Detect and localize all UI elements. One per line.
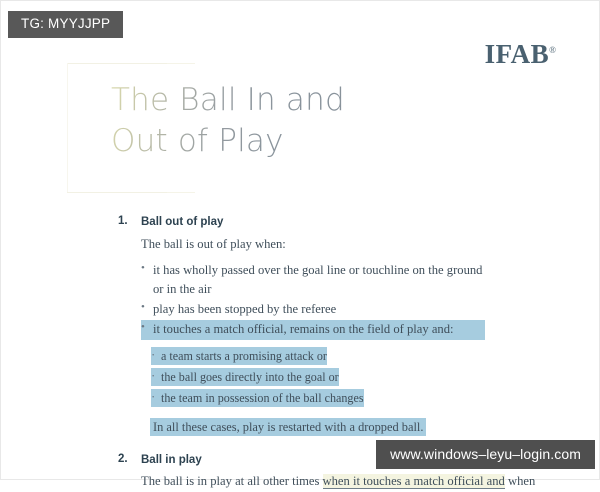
dropped-ball-statement: In all these cases, play is restarted wi… [1,418,600,437]
section-2-lead-emphasis: when it touches a match official and [323,474,505,489]
telegram-tag-badge: TG: MYYJJPP [8,11,123,38]
bullet-text: play has been stopped by the referee [153,302,336,316]
list-item: it has wholly passed over the goal line … [141,261,485,299]
registered-trademark-icon: ® [549,45,556,55]
bullet-text: it has wholly passed over the goal line … [153,263,482,296]
page-title-line-2: Out of Play [111,123,284,159]
site-watermark-badge: www.windows–leyu–login.com [376,440,595,469]
list-item-highlighted: the ball goes directly into the goal or [151,368,339,386]
page-title-line-1: The Ball In and [111,82,345,118]
list-item: play has been stopped by the referee [141,300,485,319]
section-2-lead-after: when [505,474,535,488]
list-item-highlighted: the team in possession of the ball chang… [151,389,364,407]
ifab-logo-text: IFAB [485,39,550,69]
ifab-logo: IFAB® [485,41,556,68]
bracket-left-decoration [67,63,68,193]
section-1-lead: The ball is out of play when: [118,235,600,255]
dropped-ball-text: In all these cases, play is restarted wi… [151,419,425,435]
subbullet-text: the ball goes directly into the goal or [161,370,339,384]
page-title: The Ball In and Out of Play [111,80,345,162]
section-2-lead: The ball is in play at all other times w… [118,472,600,492]
section-ball-out-of-play: 1. Ball out of play The ball is out of p… [1,215,600,254]
subbullet-text: the team in possession of the ball chang… [161,391,364,405]
document-page: TG: MYYJJPP IFAB® The Ball In and Out of… [0,0,600,480]
bracket-bottom-decoration [67,192,167,193]
ball-out-of-play-bullet-list: it has wholly passed over the goal line … [1,261,600,407]
section-1-heading: Ball out of play [118,215,600,231]
subbullet-text: a team starts a promising attack or [161,349,327,363]
bracket-top-decoration [67,63,167,64]
title-block: The Ball In and Out of Play [67,63,397,193]
list-item-highlighted: a team starts a promising attack or [151,347,327,365]
list-item-highlighted: it touches a match official, remains on … [141,320,485,339]
conditions-sub-list: a team starts a promising attack or the … [141,347,600,407]
section-2-lead-before: The ball is in play at all other times [141,474,323,488]
bullet-text: it touches a match official, remains on … [153,322,454,336]
